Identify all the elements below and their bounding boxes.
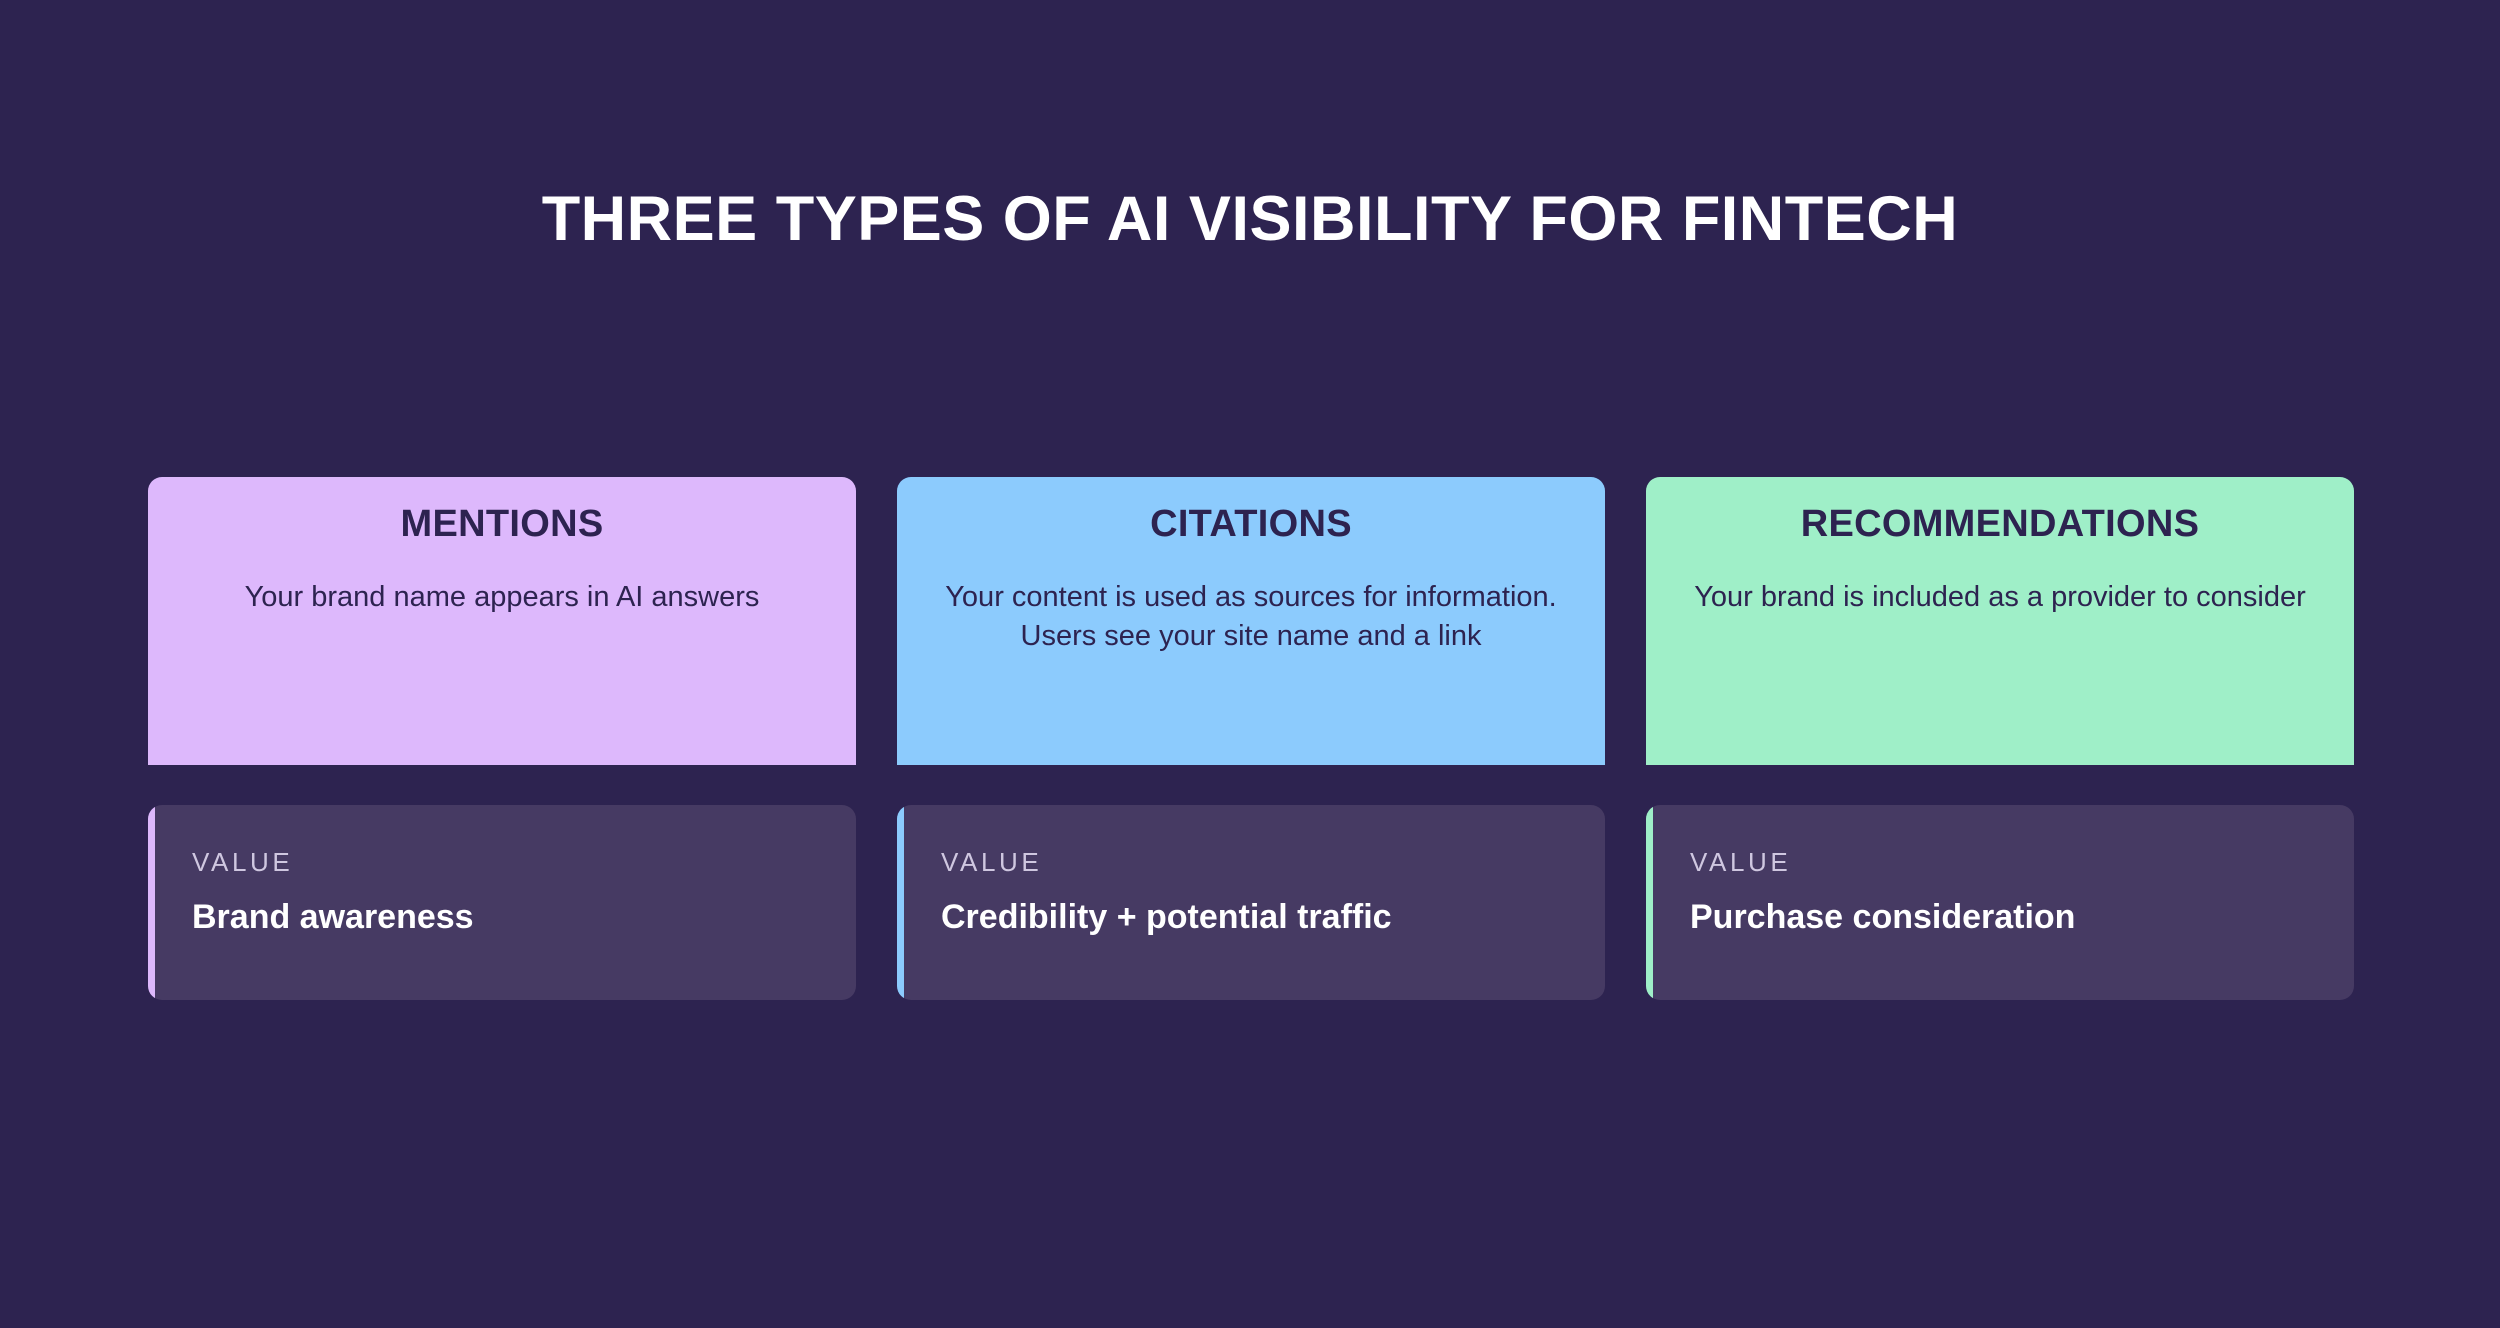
type-card-citations: CITATIONS Your content is used as source… bbox=[897, 477, 1605, 765]
type-card-heading: RECOMMENDATIONS bbox=[1680, 504, 2320, 546]
visibility-type-column-mentions: MENTIONS Your brand name appears in AI a… bbox=[148, 477, 856, 1000]
value-box-citations: VALUE Credibility + potential traffic bbox=[897, 805, 1605, 1000]
visibility-type-column-recommendations: RECOMMENDATIONS Your brand is included a… bbox=[1646, 477, 2354, 1000]
value-accent-bar bbox=[148, 805, 155, 1000]
value-accent-bar bbox=[1646, 805, 1653, 1000]
visibility-type-columns: MENTIONS Your brand name appears in AI a… bbox=[148, 477, 2354, 1000]
type-card-heading: MENTIONS bbox=[182, 504, 822, 546]
value-text: Brand awareness bbox=[192, 897, 856, 938]
type-card-description: Your brand is included as a provider to … bbox=[1680, 578, 2320, 617]
value-label: VALUE bbox=[192, 849, 856, 875]
value-box-recommendations: VALUE Purchase consideration bbox=[1646, 805, 2354, 1000]
value-box-mentions: VALUE Brand awareness bbox=[148, 805, 856, 1000]
value-accent-bar bbox=[897, 805, 904, 1000]
infographic-root: THREE TYPES OF AI VISIBILITY FOR FINTECH… bbox=[0, 0, 2500, 1328]
value-label: VALUE bbox=[1690, 849, 2354, 875]
page-title: THREE TYPES OF AI VISIBILITY FOR FINTECH bbox=[0, 185, 2500, 254]
type-card-recommendations: RECOMMENDATIONS Your brand is included a… bbox=[1646, 477, 2354, 765]
value-label: VALUE bbox=[941, 849, 1605, 875]
type-card-mentions: MENTIONS Your brand name appears in AI a… bbox=[148, 477, 856, 765]
type-card-description: Your content is used as sources for info… bbox=[931, 578, 1571, 657]
visibility-type-column-citations: CITATIONS Your content is used as source… bbox=[897, 477, 1605, 1000]
value-text: Credibility + potential traffic bbox=[941, 897, 1605, 938]
type-card-heading: CITATIONS bbox=[931, 504, 1571, 546]
type-card-description: Your brand name appears in AI answers bbox=[182, 578, 822, 617]
value-text: Purchase consideration bbox=[1690, 897, 2354, 938]
